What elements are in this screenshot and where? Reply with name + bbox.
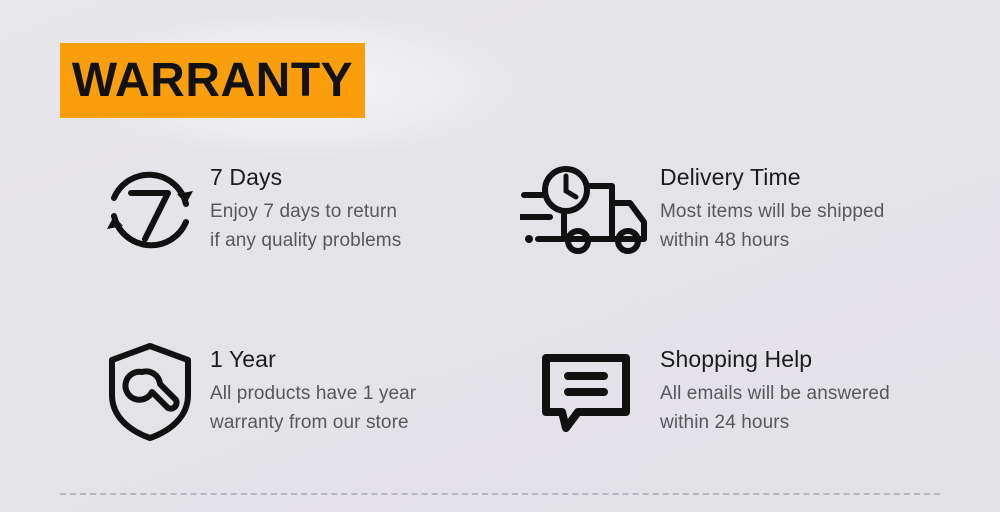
warranty-info-page: WARRANTY bbox=[0, 0, 1000, 512]
bottom-dashed-divider bbox=[60, 493, 940, 495]
feature-title: 7 Days bbox=[210, 165, 401, 191]
warranty-banner-title: WARRANTY bbox=[72, 57, 353, 105]
feature-desc-line-1: Enjoy 7 days to return bbox=[210, 197, 401, 226]
feature-text-shopping-help: Shopping Help All emails will be answere… bbox=[660, 340, 890, 438]
feature-desc-line-2: within 24 hours bbox=[660, 408, 890, 437]
feature-text-one-year: 1 Year All products have 1 year warranty… bbox=[210, 340, 416, 438]
feature-item-shopping-help: Shopping Help All emails will be answere… bbox=[512, 340, 890, 444]
feature-desc-line-2: within 48 hours bbox=[660, 226, 884, 255]
feature-title: Delivery Time bbox=[660, 165, 884, 191]
feature-item-one-year: 1 Year All products have 1 year warranty… bbox=[90, 340, 416, 444]
warranty-banner: WARRANTY bbox=[60, 43, 365, 118]
feature-desc-line-2: if any quality problems bbox=[210, 226, 401, 255]
feature-grid: 7 Days Enjoy 7 days to return if any qua… bbox=[0, 150, 1000, 470]
feature-desc-line-2: warranty from our store bbox=[210, 408, 416, 437]
feature-text-delivery-time: Delivery Time Most items will be shipped… bbox=[660, 158, 884, 256]
return-arrows-seven-icon bbox=[90, 158, 210, 262]
feature-desc-line-1: All emails will be answered bbox=[660, 379, 890, 408]
shield-wrench-icon bbox=[90, 340, 210, 444]
feature-title: Shopping Help bbox=[660, 347, 890, 373]
feature-item-seven-days: 7 Days Enjoy 7 days to return if any qua… bbox=[90, 158, 401, 262]
feature-desc-line-1: All products have 1 year bbox=[210, 379, 416, 408]
feature-item-delivery-time: Delivery Time Most items will be shipped… bbox=[512, 158, 884, 262]
delivery-truck-clock-icon bbox=[512, 158, 660, 262]
chat-bubble-icon bbox=[512, 340, 660, 444]
feature-title: 1 Year bbox=[210, 347, 416, 373]
feature-text-seven-days: 7 Days Enjoy 7 days to return if any qua… bbox=[210, 158, 401, 256]
feature-desc-line-1: Most items will be shipped bbox=[660, 197, 884, 226]
